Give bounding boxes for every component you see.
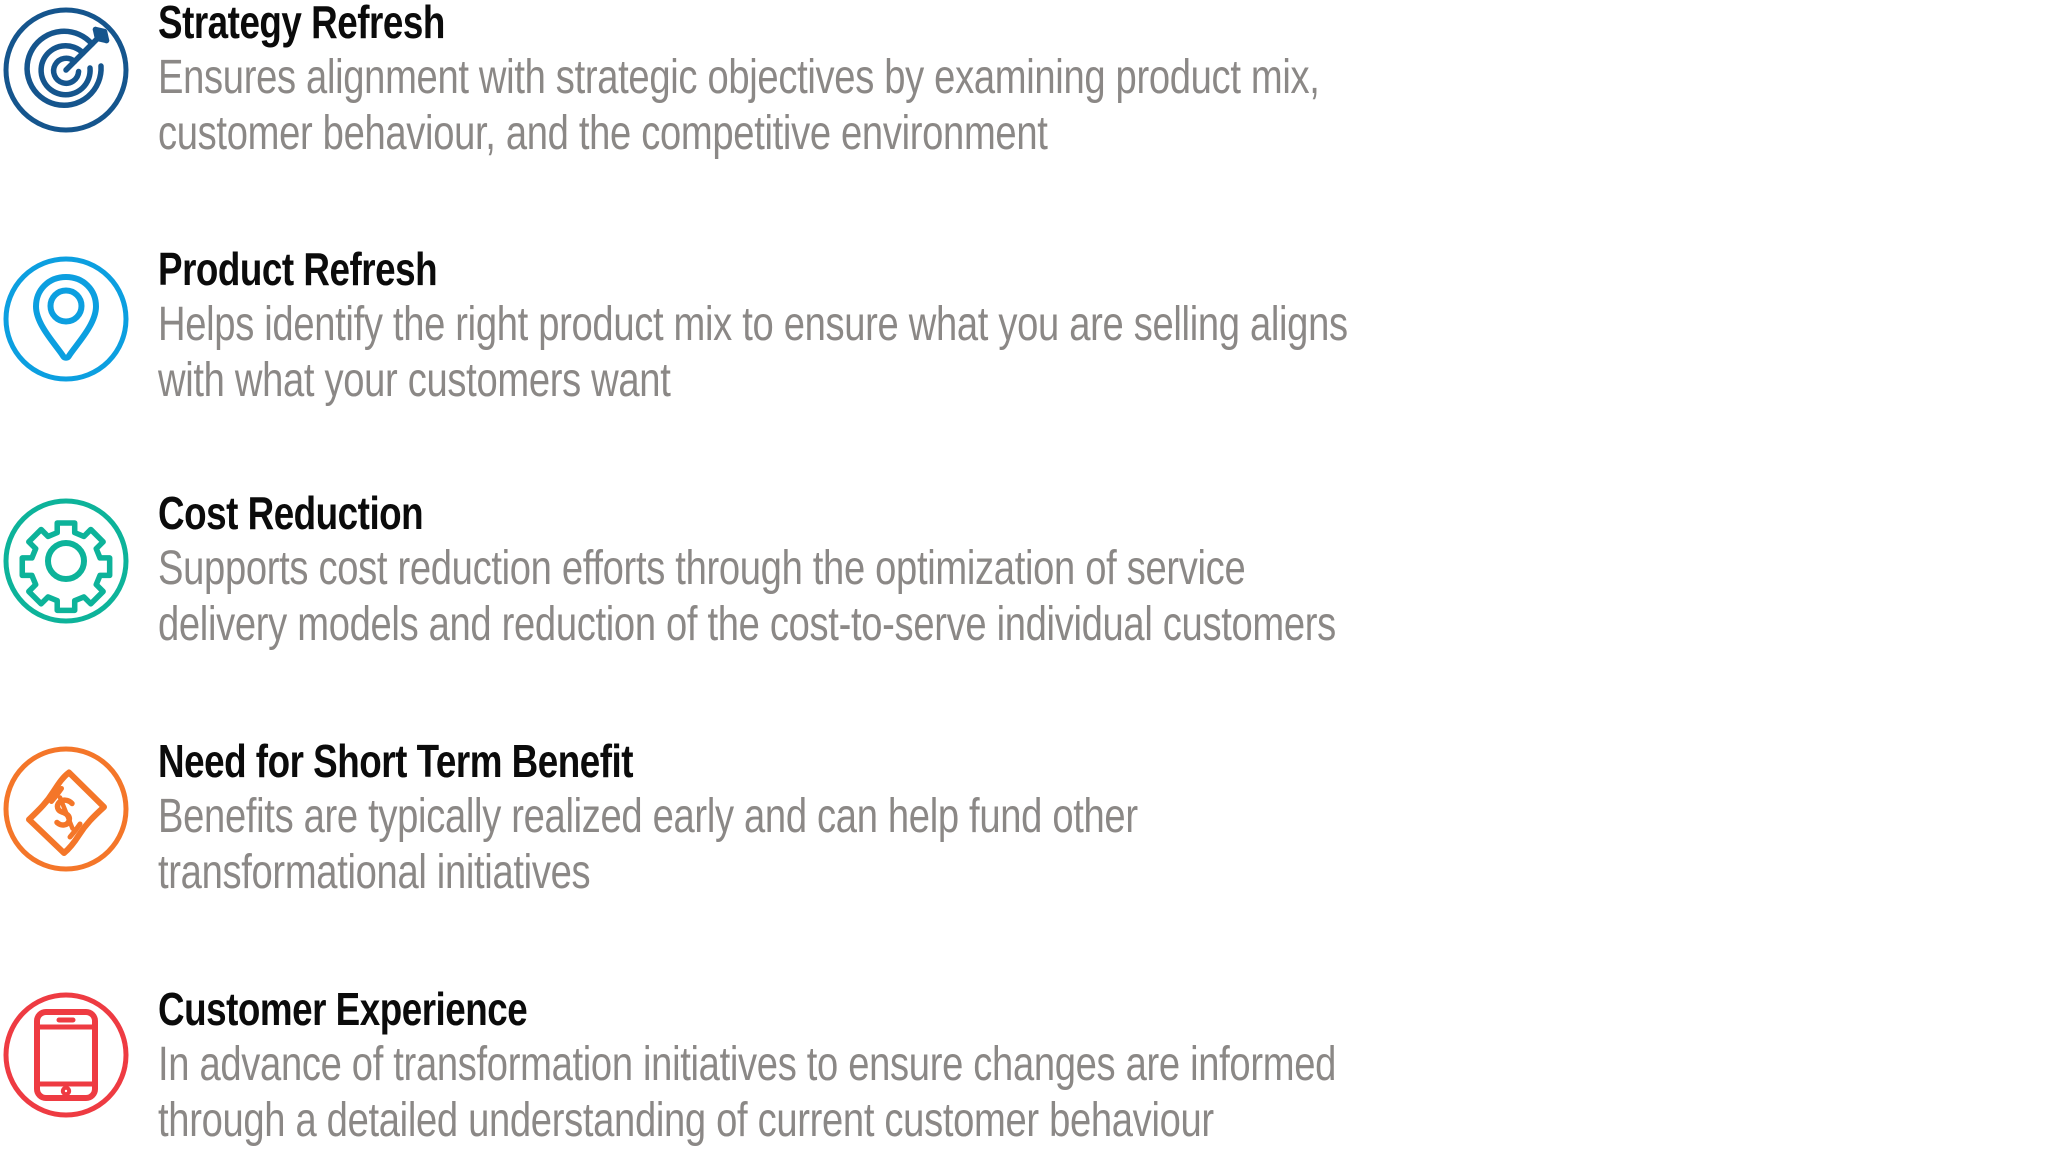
item-heading: Product Refresh [158,243,2048,295]
item-body-line: Ensures alignment with strategic objecti… [158,50,2048,106]
list-item: Cost Reduction Supports cost reduction e… [0,487,2048,653]
item-body-line: customer behaviour, and the competitive … [158,106,2048,162]
item-body-line: transformational initiatives [158,845,2048,901]
item-text: Product Refresh Helps identify the right… [140,243,2048,409]
item-body-line: through a detailed understanding of curr… [158,1093,2048,1149]
item-text: Strategy Refresh Ensures alignment with … [140,0,2048,162]
list-item: Strategy Refresh Ensures alignment with … [0,0,2048,162]
target-bullseye-arrow-icon [0,4,140,144]
item-text: Cost Reduction Supports cost reduction e… [140,487,2048,653]
list-item: Customer Experience In advance of transf… [0,983,2048,1149]
banknote-dollar-icon [0,743,140,883]
item-body: Helps identify the right product mix to … [158,295,2048,409]
item-body: In advance of transformation initiatives… [158,1035,2048,1149]
item-heading: Cost Reduction [158,487,2048,539]
item-text: Need for Short Term Benefit Benefits are… [140,735,2048,901]
benefits-list: Strategy Refresh Ensures alignment with … [0,0,2048,1167]
item-body: Supports cost reduction efforts through … [158,539,2048,653]
item-body-line: with what your customers want [158,353,2048,409]
list-item: Need for Short Term Benefit Benefits are… [0,735,2048,901]
smartphone-icon [0,989,140,1129]
item-body-line: In advance of transformation initiatives… [158,1037,2048,1093]
item-body: Ensures alignment with strategic objecti… [158,48,2048,162]
item-body-line: Helps identify the right product mix to … [158,297,2048,353]
item-body: Benefits are typically realized early an… [158,787,2048,901]
item-text: Customer Experience In advance of transf… [140,983,2048,1149]
gear-icon [0,495,140,635]
item-body-line: delivery models and reduction of the cos… [158,597,2048,653]
item-body-line: Benefits are typically realized early an… [158,789,2048,845]
item-heading: Customer Experience [158,983,2048,1035]
item-heading: Need for Short Term Benefit [158,735,2048,787]
item-body-line: Supports cost reduction efforts through … [158,541,2048,597]
list-item: Product Refresh Helps identify the right… [0,243,2048,409]
item-heading: Strategy Refresh [158,0,2048,48]
map-pin-icon [0,253,140,393]
